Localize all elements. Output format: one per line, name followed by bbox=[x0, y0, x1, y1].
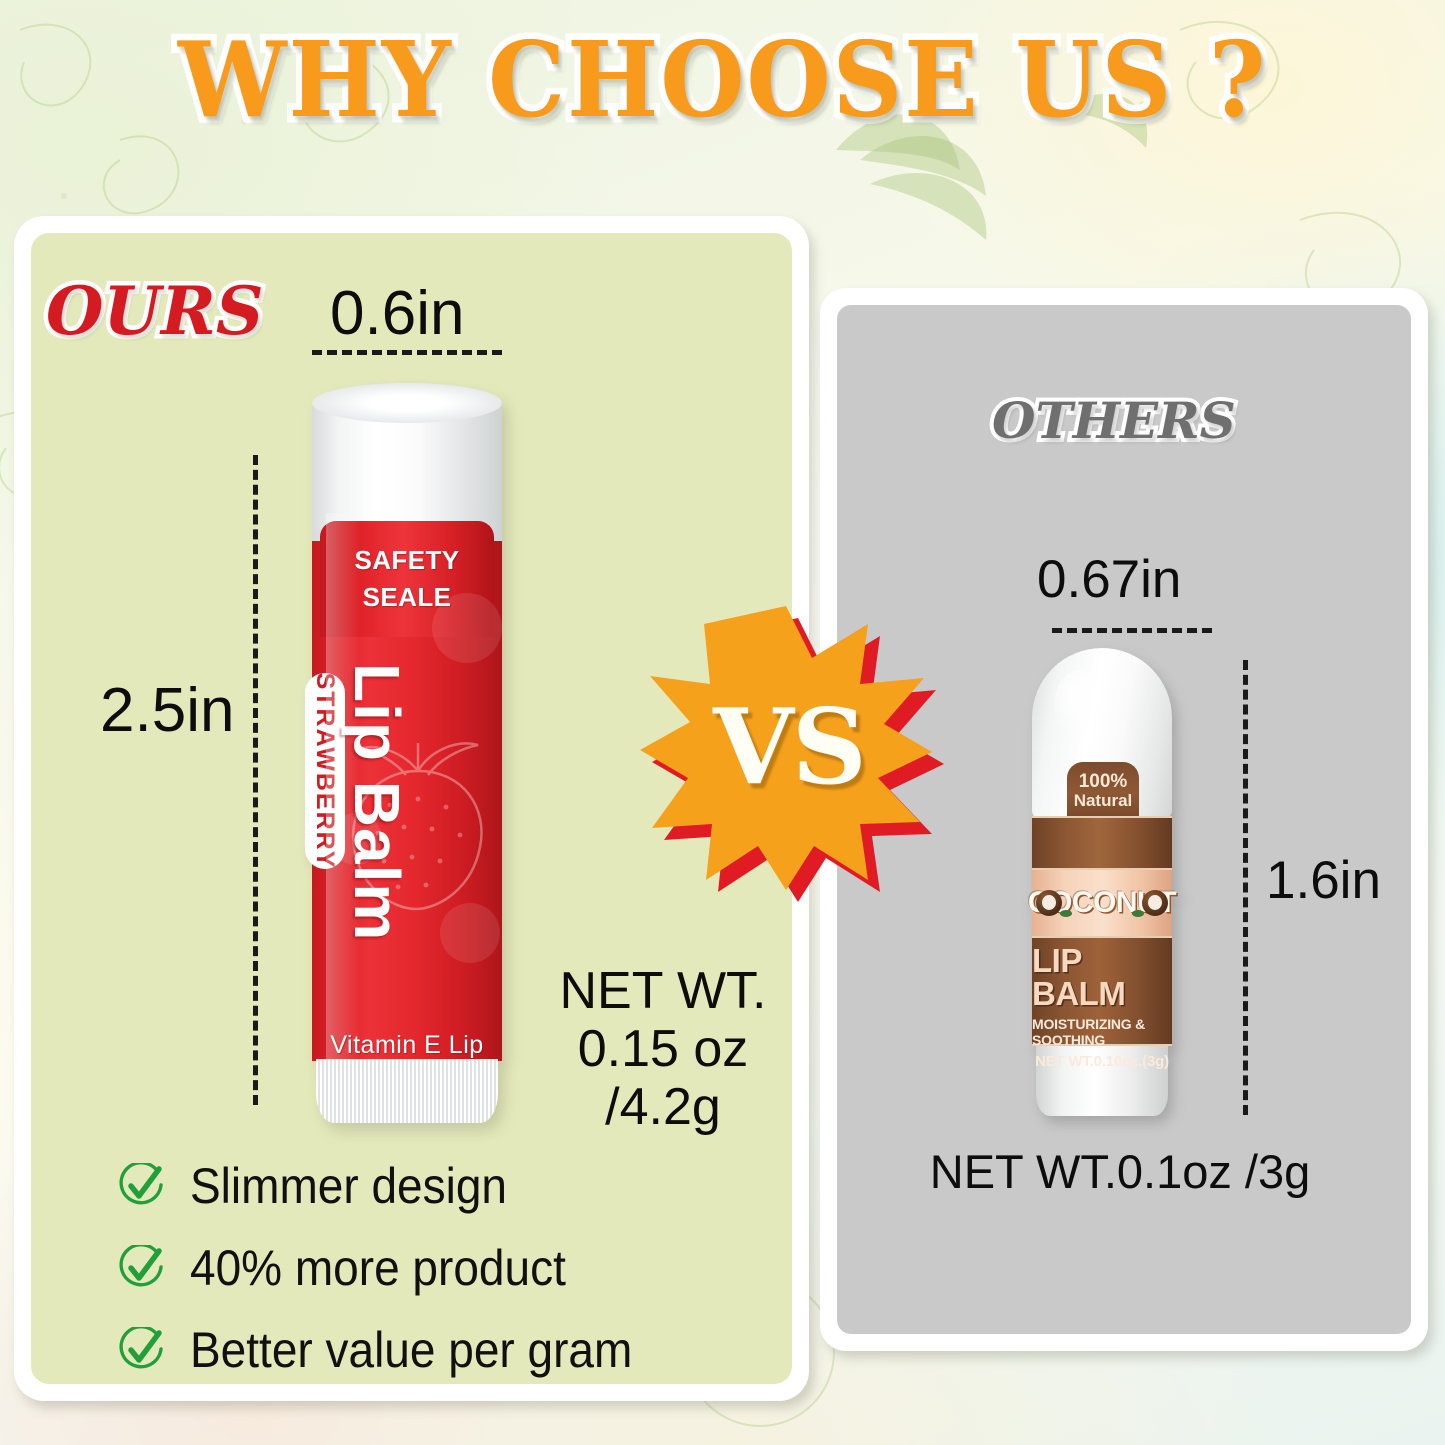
vs-label: VS bbox=[636, 600, 936, 896]
benefit-label: 40% more product bbox=[190, 1243, 566, 1293]
check-circle-icon bbox=[118, 1245, 164, 1291]
others-height-dashed-guide bbox=[1243, 660, 1248, 1115]
coco-natural-badge: 100% Natural bbox=[1067, 762, 1139, 818]
others-height-dimension-label: 1.6in bbox=[1266, 854, 1381, 907]
leaf-icon-right bbox=[1132, 910, 1144, 917]
coco-upper-brown-band bbox=[1032, 816, 1172, 870]
ours-lip-balm-tube: SAFETY SEALE STRAWBERRY Lip Balm Vitamin… bbox=[312, 383, 502, 1123]
strawberry-flavor-pill: STRAWBERRY bbox=[305, 673, 345, 869]
ours-net-weight-line1: NET WT. bbox=[518, 962, 808, 1020]
others-width-dimension-label: 0.67in bbox=[1037, 553, 1181, 606]
others-coconut-balm-stick: 100% Natural COCONUT LIP BALM MOISTURIZI… bbox=[1024, 648, 1180, 1116]
coco-lower-brown-band: LIP BALM MOISTURIZING & SOOTHING NET WT.… bbox=[1032, 936, 1172, 1046]
tube-base-ribbed bbox=[316, 1059, 498, 1123]
ours-product-footer: Vitamin E Lip bbox=[312, 1031, 502, 1060]
coco-product-name: LIP BALM bbox=[1032, 944, 1172, 1010]
page-title: WHY CHOOSE US ? bbox=[178, 28, 1267, 132]
ours-height-dimension-label: 2.5in bbox=[100, 680, 234, 742]
coconut-icon-right bbox=[1142, 890, 1168, 916]
ours-net-weight-line2: 0.15 oz /4.2g bbox=[518, 1020, 808, 1136]
others-width-dashed-guide bbox=[1052, 628, 1212, 633]
coco-natural-line1: 100% bbox=[1079, 772, 1128, 791]
check-circle-icon bbox=[118, 1327, 164, 1373]
vs-badge: VS bbox=[636, 600, 936, 896]
coco-net-weight: NET WT.0.10oz.(3g) bbox=[1035, 1053, 1169, 1070]
ours-benefits-list: Slimmer design 40% more product Better v… bbox=[118, 1145, 778, 1391]
coco-natural-line2: Natural bbox=[1074, 792, 1133, 809]
tube-cap bbox=[312, 383, 502, 533]
ours-net-weight: NET WT. 0.15 oz /4.2g bbox=[518, 962, 808, 1137]
safety-seal-band: SAFETY SEALE bbox=[320, 521, 494, 637]
check-circle-icon bbox=[118, 1163, 164, 1209]
list-item: Slimmer design bbox=[118, 1145, 778, 1227]
leaf-icon-left bbox=[1060, 910, 1072, 917]
ours-height-dashed-guide bbox=[253, 455, 258, 1105]
coco-tagline: MOISTURIZING & SOOTHING bbox=[1032, 1016, 1172, 1048]
list-item: 40% more product bbox=[118, 1227, 778, 1309]
page-title-container: WHY CHOOSE US ? bbox=[0, 28, 1445, 132]
strawberry-flavor-label: STRAWBERRY bbox=[311, 673, 340, 870]
others-heading: OTHERS bbox=[992, 396, 1236, 446]
coconut-icon-left bbox=[1036, 890, 1062, 916]
benefit-label: Better value per gram bbox=[190, 1325, 632, 1375]
list-item: Better value per gram bbox=[118, 1309, 778, 1391]
others-net-weight: NET WT.0.1oz /3g bbox=[900, 1148, 1340, 1195]
safety-seal-line1: SAFETY bbox=[355, 545, 460, 576]
ours-heading: OURS bbox=[46, 278, 264, 344]
coco-flavor-band: COCONUT bbox=[1032, 870, 1172, 936]
ours-width-dashed-guide bbox=[312, 350, 502, 355]
ours-width-dimension-label: 0.6in bbox=[330, 283, 464, 345]
ours-product-name: Lip Balm bbox=[340, 663, 414, 941]
benefit-label: Slimmer design bbox=[190, 1161, 507, 1211]
safety-seal-line2: SEALE bbox=[363, 582, 452, 613]
